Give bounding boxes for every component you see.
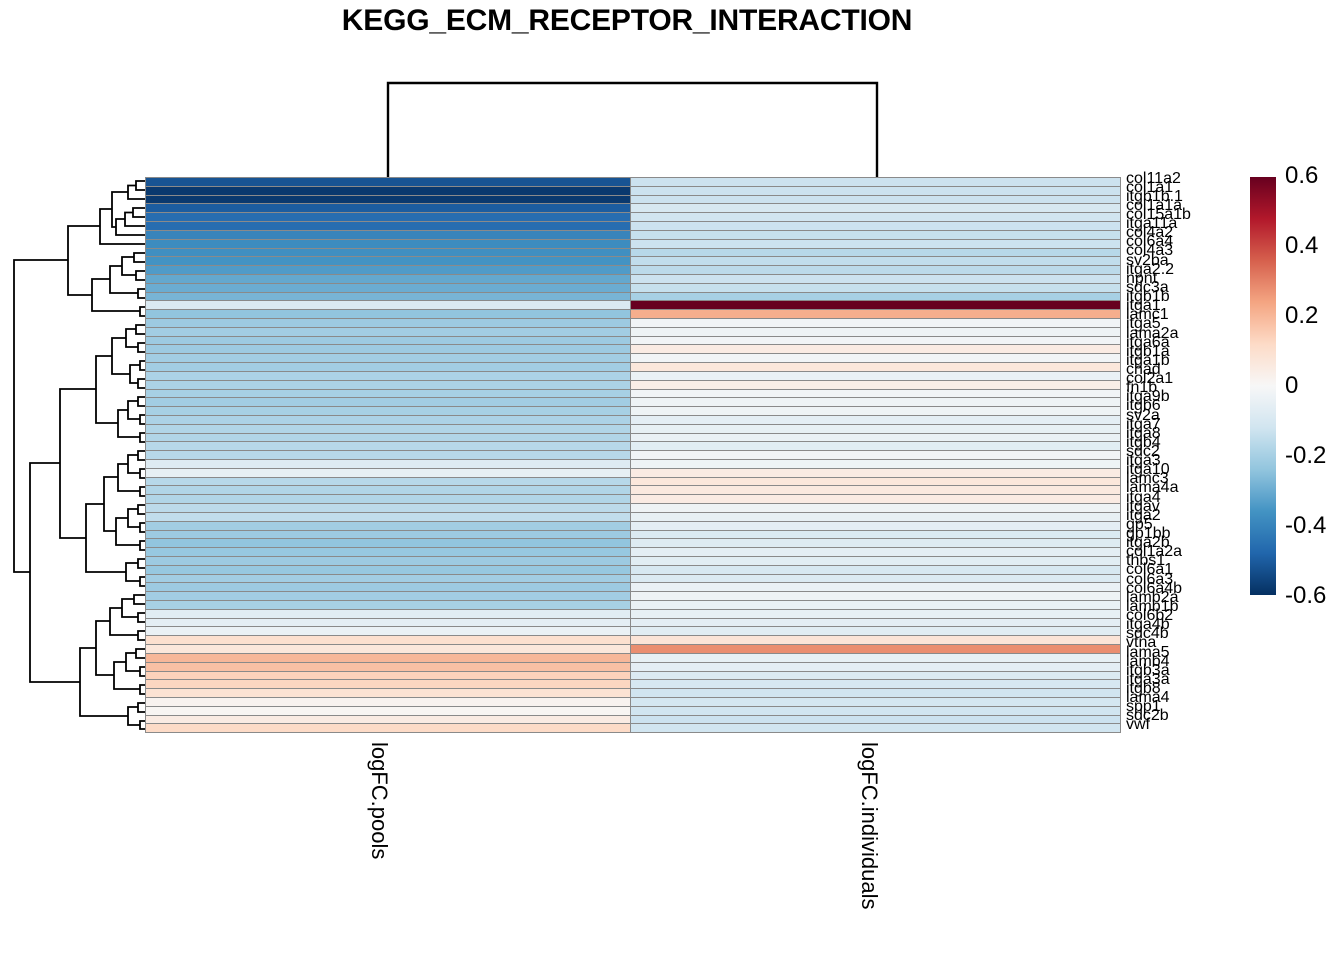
heatmap-row <box>146 222 1120 230</box>
heatmap-row <box>146 531 1120 539</box>
heatmap-row <box>146 460 1120 468</box>
heatmap-cell <box>631 557 1120 565</box>
heatmap-row <box>146 469 1120 477</box>
heatmap-cell <box>146 724 630 732</box>
heatmap-cell <box>146 592 630 600</box>
heatmap-cell <box>146 583 630 591</box>
heatmap-cell <box>631 548 1120 556</box>
heatmap-cell <box>631 187 1120 195</box>
heatmap-cell <box>146 680 630 688</box>
heatmap-cell <box>146 513 630 521</box>
heatmap-row <box>146 645 1120 653</box>
heatmap-cell <box>631 398 1120 406</box>
heatmap-row <box>146 257 1120 265</box>
heatmap-cell <box>631 707 1120 715</box>
heatmap-cell <box>146 390 630 398</box>
heatmap-cell <box>631 716 1120 724</box>
heatmap-cell <box>631 486 1120 494</box>
heatmap-cell <box>631 636 1120 644</box>
heatmap-cell <box>631 531 1120 539</box>
heatmap-row <box>146 672 1120 680</box>
heatmap-cell <box>631 575 1120 583</box>
heatmap-cell <box>146 310 630 318</box>
colorbar-gradient <box>1249 176 1277 596</box>
heatmap-cell <box>631 178 1120 186</box>
heatmap-cell <box>146 486 630 494</box>
heatmap-cell <box>631 328 1120 336</box>
heatmap-row <box>146 354 1120 362</box>
heatmap-row <box>146 381 1120 389</box>
heatmap-cell <box>631 663 1120 671</box>
colorbar-tick-label: 0.4 <box>1285 232 1318 260</box>
heatmap-row <box>146 178 1120 186</box>
heatmap-cell <box>146 363 630 371</box>
heatmap-row <box>146 680 1120 688</box>
heatmap-cell <box>146 469 630 477</box>
heatmap-cell <box>631 654 1120 662</box>
heatmap-row <box>146 716 1120 724</box>
heatmap-row <box>146 619 1120 627</box>
heatmap-cell <box>146 548 630 556</box>
heatmap-cell <box>146 293 630 301</box>
heatmap-row <box>146 601 1120 609</box>
row-label-list: col11a2col1a1itgb1b.1col1a1acol15a1bitga… <box>1126 177 1241 733</box>
heatmap-cell <box>631 434 1120 442</box>
heatmap-cell <box>146 372 630 380</box>
heatmap-cell <box>146 504 630 512</box>
page-title: KEGG_ECM_RECEPTOR_INTERACTION <box>0 4 1254 38</box>
heatmap-cell <box>631 319 1120 327</box>
heatmap-cell <box>631 284 1120 292</box>
heatmap-cell <box>146 231 630 239</box>
heatmap-cell <box>631 627 1120 635</box>
heatmap-cell <box>631 539 1120 547</box>
heatmap-cell <box>146 328 630 336</box>
heatmap-cell <box>631 222 1120 230</box>
heatmap-cell <box>146 381 630 389</box>
heatmap-row <box>146 707 1120 715</box>
heatmap-row <box>146 636 1120 644</box>
heatmap-row <box>146 328 1120 336</box>
heatmap-cell <box>146 539 630 547</box>
heatmap-row <box>146 319 1120 327</box>
heatmap-row <box>146 398 1120 406</box>
heatmap-cell <box>631 363 1120 371</box>
heatmap-cell <box>146 266 630 274</box>
heatmap-row <box>146 486 1120 494</box>
heatmap-cell <box>631 469 1120 477</box>
heatmap-cell <box>631 390 1120 398</box>
heatmap-cell <box>146 698 630 706</box>
heatmap-cell <box>146 407 630 415</box>
heatmap-cell <box>631 610 1120 618</box>
heatmap-cell <box>631 213 1120 221</box>
heatmap-cell <box>631 513 1120 521</box>
heatmap-cell <box>631 249 1120 257</box>
heatmap-row <box>146 724 1120 732</box>
colorbar-tick-label: 0.2 <box>1285 302 1318 330</box>
heatmap-cell <box>631 372 1120 380</box>
heatmap-cell <box>631 425 1120 433</box>
heatmap-cell <box>631 583 1120 591</box>
heatmap-cell <box>631 451 1120 459</box>
heatmap-cell <box>146 398 630 406</box>
heatmap-row <box>146 425 1120 433</box>
heatmap-cell <box>146 213 630 221</box>
heatmap-cell <box>631 240 1120 248</box>
colorbar-tick-label: -0.2 <box>1285 442 1326 470</box>
heatmap-row <box>146 583 1120 591</box>
heatmap-cell <box>146 689 630 697</box>
heatmap-row <box>146 345 1120 353</box>
heatmap-cell <box>146 301 630 309</box>
heatmap-cell <box>146 451 630 459</box>
heatmap-cell <box>146 275 630 283</box>
heatmap-cell <box>631 275 1120 283</box>
heatmap-row <box>146 416 1120 424</box>
heatmap-cell <box>146 557 630 565</box>
heatmap-cell <box>146 636 630 644</box>
heatmap-row <box>146 698 1120 706</box>
heatmap-row <box>146 654 1120 662</box>
heatmap-row <box>146 478 1120 486</box>
heatmap-cell <box>146 442 630 450</box>
heatmap-cell <box>631 601 1120 609</box>
heatmap-cell <box>146 522 630 530</box>
heatmap-row <box>146 575 1120 583</box>
heatmap-cell <box>146 531 630 539</box>
heatmap-cell <box>146 672 630 680</box>
heatmap-row <box>146 310 1120 318</box>
colorbar-tick-label: -0.6 <box>1285 582 1326 610</box>
column-label-logfc-pools: logFC.pools <box>366 742 392 859</box>
heatmap-row <box>146 266 1120 274</box>
heatmap-cell <box>631 204 1120 212</box>
heatmap-cell <box>631 645 1120 653</box>
heatmap-cell <box>146 222 630 230</box>
heatmap-row <box>146 275 1120 283</box>
heatmap-cell <box>631 460 1120 468</box>
colorbar-tick-label: 0 <box>1285 372 1298 400</box>
heatmap-row <box>146 434 1120 442</box>
heatmap-row <box>146 495 1120 503</box>
heatmap-cell <box>631 619 1120 627</box>
heatmap-cell <box>146 460 630 468</box>
heatmap-cell <box>631 337 1120 345</box>
heatmap-row <box>146 548 1120 556</box>
heatmap-cell <box>146 566 630 574</box>
heatmap-cell <box>631 495 1120 503</box>
heatmap-cell <box>146 619 630 627</box>
heatmap-cell <box>146 284 630 292</box>
heatmap-cell <box>631 672 1120 680</box>
heatmap-row <box>146 566 1120 574</box>
heatmap-row <box>146 240 1120 248</box>
heatmap-cell <box>146 627 630 635</box>
heatmap-cell <box>146 425 630 433</box>
heatmap-cell <box>146 345 630 353</box>
heatmap-cell <box>146 654 630 662</box>
heatmap-row <box>146 196 1120 204</box>
column-dendrogram <box>0 40 1344 180</box>
heatmap-cell <box>146 645 630 653</box>
heatmap-cell <box>146 663 630 671</box>
heatmap-cell <box>631 301 1120 309</box>
heatmap-row <box>146 204 1120 212</box>
heatmap-row <box>146 522 1120 530</box>
heatmap-row <box>146 301 1120 309</box>
heatmap-row <box>146 363 1120 371</box>
heatmap-cell <box>631 478 1120 486</box>
heatmap-cell <box>631 381 1120 389</box>
row-label: vwf <box>1126 720 1150 730</box>
heatmap-cell <box>631 266 1120 274</box>
heatmap-row <box>146 187 1120 195</box>
heatmap-cell <box>146 249 630 257</box>
heatmap-row <box>146 213 1120 221</box>
heatmap-cell <box>146 478 630 486</box>
heatmap-row <box>146 293 1120 301</box>
heatmap-row <box>146 557 1120 565</box>
heatmap-row <box>146 592 1120 600</box>
column-label-logfc-individuals: logFC.individuals <box>856 742 882 910</box>
heatmap-row <box>146 249 1120 257</box>
heatmap-row <box>146 407 1120 415</box>
heatmap-cell <box>631 345 1120 353</box>
heatmap-cell <box>146 416 630 424</box>
heatmap-cell <box>631 522 1120 530</box>
heatmap-cell <box>631 293 1120 301</box>
heatmap-cell <box>631 724 1120 732</box>
heatmap-row <box>146 390 1120 398</box>
heatmap-cell <box>631 231 1120 239</box>
heatmap-row <box>146 372 1120 380</box>
row-dendrogram <box>0 177 146 733</box>
heatmap-row <box>146 504 1120 512</box>
heatmap-cell <box>146 240 630 248</box>
heatmap-cell <box>146 196 630 204</box>
heatmap-cell <box>146 257 630 265</box>
heatmap-cell <box>146 337 630 345</box>
colorbar-tick-label: 0.6 <box>1285 162 1318 190</box>
heatmap-cell <box>146 204 630 212</box>
heatmap-cell <box>631 689 1120 697</box>
heatmap-cell <box>631 196 1120 204</box>
heatmap-row <box>146 539 1120 547</box>
heatmap-row <box>146 231 1120 239</box>
heatmap-cell <box>631 442 1120 450</box>
heatmap-row <box>146 663 1120 671</box>
heatmap-cell <box>146 707 630 715</box>
heatmap-cell <box>146 434 630 442</box>
heatmap-row <box>146 627 1120 635</box>
heatmap-cell <box>146 716 630 724</box>
heatmap-cell <box>146 575 630 583</box>
heatmap-cell <box>631 592 1120 600</box>
heatmap-row <box>146 610 1120 618</box>
heatmap-row <box>146 513 1120 521</box>
heatmap-cell <box>631 407 1120 415</box>
heatmap-cell <box>146 495 630 503</box>
heatmap-cell <box>146 187 630 195</box>
colorbar-tick-label: -0.4 <box>1285 512 1326 540</box>
heatmap-cell <box>146 354 630 362</box>
heatmap-cell <box>631 257 1120 265</box>
heatmap-cell <box>631 680 1120 688</box>
heatmap-cell <box>146 178 630 186</box>
heatmap-cell <box>146 601 630 609</box>
heatmap-cell <box>631 566 1120 574</box>
heatmap-cell <box>631 310 1120 318</box>
heatmap-cell <box>146 610 630 618</box>
heatmap-row <box>146 337 1120 345</box>
heatmap-cell <box>146 319 630 327</box>
heatmap-row <box>146 442 1120 450</box>
heatmap-row <box>146 284 1120 292</box>
heatmap-cell <box>631 698 1120 706</box>
heatmap-cell <box>631 504 1120 512</box>
heatmap-row <box>146 451 1120 459</box>
heatmap-cell <box>631 416 1120 424</box>
heatmap-row <box>146 689 1120 697</box>
heatmap-cell <box>631 354 1120 362</box>
color-legend: 0.60.40.20-0.2-0.4-0.6 <box>1249 176 1344 596</box>
heatmap-grid <box>145 177 1121 733</box>
